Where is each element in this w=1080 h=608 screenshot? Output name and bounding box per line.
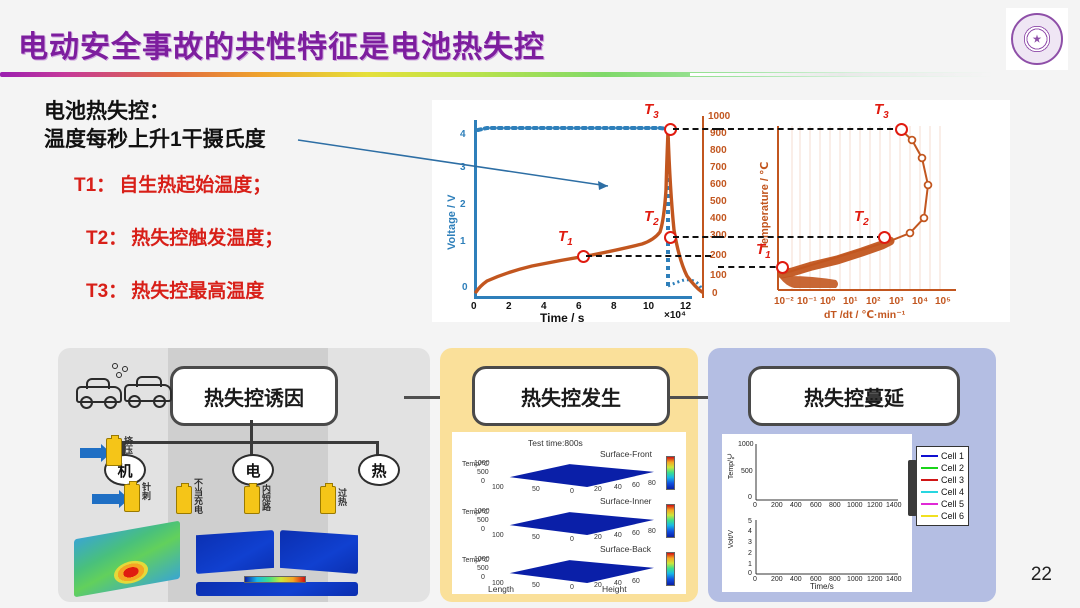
dtdt-tick-1: 10⁻¹ bbox=[797, 296, 817, 307]
marker-r-t3 bbox=[895, 123, 908, 136]
legend-label-cell-6: Cell 6 bbox=[941, 511, 964, 521]
inner-x-0: 0 bbox=[570, 536, 574, 543]
definition-t2-key: T2： bbox=[86, 228, 127, 249]
volt-y-1: 1 bbox=[748, 561, 752, 568]
slide-root: 电动安全事故的共性特征是电池热失控 电池热失控： 温度每秒上升1干摄氏度 T1：… bbox=[0, 0, 1080, 608]
tree-drop-2 bbox=[250, 441, 253, 455]
front-y-40: 40 bbox=[614, 484, 622, 491]
dtdt-axis-label: dT /dt / ℃·min⁻¹ bbox=[824, 309, 905, 321]
label-t1: T1 bbox=[558, 228, 573, 248]
propagation-plot: Temp/℃ 1000 500 0 0 200 400 600 800 1000… bbox=[722, 434, 912, 592]
volt-y-2: 2 bbox=[748, 550, 752, 557]
definition-t1-text: 自生热起始温度； bbox=[119, 175, 271, 196]
puncture-force-arrow-icon bbox=[92, 494, 120, 504]
lead-text: 电池热失控： 温度每秒上升1干摄氏度 bbox=[44, 98, 266, 154]
front-z-500: 500 bbox=[477, 469, 489, 476]
temp-x-200: 200 bbox=[771, 502, 783, 509]
propagation-volt-ylabel: Volt/V bbox=[728, 530, 735, 548]
temp-x-600: 600 bbox=[810, 502, 822, 509]
legend-item-cell-3: Cell 3 bbox=[921, 474, 964, 486]
inner-x-100: 100 bbox=[492, 532, 504, 539]
definition-t3-key: T3： bbox=[86, 281, 127, 302]
propagation-xlabel: Time/s bbox=[810, 582, 834, 591]
battery-short-circuit-label: 内短路 bbox=[260, 484, 273, 511]
back-z-0: 0 bbox=[481, 574, 485, 581]
definition-t3-text: 热失控最高温度 bbox=[131, 281, 264, 302]
flow-box-cause[interactable]: 热失控诱因 bbox=[170, 366, 338, 426]
legend-label-cell-1: Cell 1 bbox=[941, 451, 964, 461]
flow-panel-occurrence: 热失控发生 Test time:800s Surface-Front Temp/… bbox=[440, 348, 698, 602]
surface-ylabel: Height bbox=[602, 584, 627, 594]
battery-overcharge-icon bbox=[176, 486, 192, 514]
definition-list: T1：自生热起始温度； T2：热失控触发温度； T3：热失控最高温度 bbox=[74, 170, 283, 329]
dtdt-grid bbox=[732, 100, 1010, 322]
battery-overheat-icon bbox=[320, 486, 336, 514]
surface-inner-colorbar bbox=[666, 504, 675, 538]
legend-item-cell-1: Cell 1 bbox=[921, 450, 964, 462]
branch-badge-electrical[interactable]: 电 bbox=[232, 454, 274, 486]
temp-x-1400: 1400 bbox=[886, 502, 902, 509]
battery-crush-label: 挤压 bbox=[122, 436, 135, 454]
dtdt-tick-2: 10⁰ bbox=[820, 296, 836, 307]
temp-y-500: 500 bbox=[741, 468, 753, 475]
module-photo-strip bbox=[908, 460, 917, 516]
marker-r-t1 bbox=[776, 261, 789, 274]
legend-item-cell-2: Cell 2 bbox=[921, 462, 964, 474]
thermal-map-module-right bbox=[280, 530, 358, 574]
temp-y-0: 0 bbox=[748, 494, 752, 501]
definition-t1: T1：自生热起始温度； bbox=[74, 170, 283, 197]
flow-box-propagation[interactable]: 热失控蔓延 bbox=[748, 366, 960, 426]
dashline-t3 bbox=[673, 128, 718, 130]
label-r-t3: T3 bbox=[874, 101, 889, 121]
volt-y-3: 3 bbox=[748, 539, 752, 546]
volt-y-5: 5 bbox=[748, 518, 752, 525]
dashline-t1 bbox=[586, 255, 711, 257]
flow-box-occurrence[interactable]: 热失控发生 bbox=[472, 366, 670, 426]
title-divider-fade bbox=[690, 73, 990, 76]
legend-swatch-cell-3 bbox=[921, 479, 938, 482]
temp-x-1200: 1200 bbox=[867, 502, 883, 509]
volt-y-0: 0 bbox=[748, 570, 752, 577]
volt-x-1400: 1400 bbox=[886, 576, 902, 583]
cell-legend: Cell 1 Cell 2 Cell 3 Cell 4 Cell 5 Cell … bbox=[916, 446, 969, 526]
inner-z-500: 500 bbox=[477, 517, 489, 524]
thermal-map-strip bbox=[196, 582, 358, 596]
dtdt-temperature-chart: Temperature / ℃ 10⁻² 10⁻¹ 10⁰ 10¹ 10² 10… bbox=[732, 100, 1010, 322]
front-z-0: 0 bbox=[481, 478, 485, 485]
voltage-temp-curves bbox=[432, 100, 732, 322]
surface-xlabel: Length bbox=[488, 584, 514, 594]
legend-swatch-cell-4 bbox=[921, 491, 938, 494]
battery-puncture-label: 针刺 bbox=[140, 482, 153, 500]
legend-label-cell-2: Cell 2 bbox=[941, 463, 964, 473]
inner-y-20: 20 bbox=[594, 534, 602, 541]
front-x-0: 0 bbox=[570, 488, 574, 495]
surface-plot-group: Test time:800s Surface-Front Temp/℃ 1000… bbox=[452, 432, 686, 594]
volt-x-400: 400 bbox=[790, 576, 802, 583]
dtdt-tick-7: 10⁵ bbox=[935, 296, 951, 307]
volt-x-1000: 1000 bbox=[847, 576, 863, 583]
propagation-temp-ylabel: Temp/℃ bbox=[728, 452, 736, 479]
legend-label-cell-4: Cell 4 bbox=[941, 487, 964, 497]
dtdt-tick-3: 10¹ bbox=[843, 296, 857, 307]
volt-x-1200: 1200 bbox=[867, 576, 883, 583]
legend-swatch-cell-5 bbox=[921, 503, 938, 506]
definition-t2-text: 热失控触发温度； bbox=[131, 228, 283, 249]
back-y-20: 20 bbox=[594, 582, 602, 589]
marker-r-t2 bbox=[878, 231, 891, 244]
legend-swatch-cell-2 bbox=[921, 467, 938, 470]
back-y-60: 60 bbox=[632, 578, 640, 585]
front-x-50: 50 bbox=[532, 486, 540, 493]
thermal-colorbar bbox=[244, 576, 306, 583]
chart-card: Voltage / V 1 2 3 4 0 0 2 4 6 8 10 12 Ti… bbox=[432, 100, 1010, 322]
legend-swatch-cell-6 bbox=[921, 515, 938, 518]
dashline-r-t3 bbox=[718, 128, 903, 130]
legend-item-cell-5: Cell 5 bbox=[921, 498, 964, 510]
definition-t2: T2：热失控触发温度； bbox=[74, 223, 283, 250]
legend-item-cell-6: Cell 6 bbox=[921, 510, 964, 522]
temp-x-0: 0 bbox=[753, 502, 757, 509]
front-x-100: 100 bbox=[492, 484, 504, 491]
surface-back-label: Surface-Back bbox=[600, 544, 651, 554]
university-logo bbox=[1006, 8, 1068, 70]
legend-label-cell-5: Cell 5 bbox=[941, 499, 964, 509]
flow-panel-propagation: 热失控蔓延 Temp/℃ 1000 500 0 0 200 400 600 80… bbox=[708, 348, 996, 602]
dtdt-tick-6: 10⁴ bbox=[912, 296, 928, 307]
back-z-500: 500 bbox=[477, 565, 489, 572]
dashline-r-t2 bbox=[718, 236, 883, 238]
lead-line-2: 温度每秒上升1干摄氏度 bbox=[44, 126, 266, 154]
front-y-20: 20 bbox=[594, 486, 602, 493]
crush-force-arrow-icon bbox=[80, 448, 102, 458]
back-z-1000: 1000 bbox=[474, 556, 490, 563]
thermal-map-cell bbox=[74, 521, 180, 598]
tree-stem bbox=[250, 420, 253, 442]
dashline-t2 bbox=[673, 236, 718, 238]
surface-plot-title: Test time:800s bbox=[528, 438, 583, 448]
legend-item-cell-4: Cell 4 bbox=[921, 486, 964, 498]
inner-y-80: 80 bbox=[648, 528, 656, 535]
volt-x-200: 200 bbox=[771, 576, 783, 583]
front-y-60: 60 bbox=[632, 482, 640, 489]
inner-y-40: 40 bbox=[614, 532, 622, 539]
legend-swatch-cell-1 bbox=[921, 455, 938, 458]
dtdt-tick-5: 10³ bbox=[889, 296, 903, 307]
back-x-0: 0 bbox=[570, 584, 574, 591]
dtdt-tick-0: 10⁻² bbox=[774, 296, 794, 307]
definition-t1-key: T1： bbox=[74, 175, 115, 196]
temp-x-800: 800 bbox=[829, 502, 841, 509]
lead-line-1: 电池热失控： bbox=[44, 98, 266, 126]
label-t2: T2 bbox=[644, 208, 659, 228]
surface-back-mesh bbox=[478, 558, 654, 584]
label-r-t2: T2 bbox=[854, 208, 869, 228]
tree-drop-3 bbox=[376, 441, 379, 455]
inner-y-60: 60 bbox=[632, 530, 640, 537]
volt-y-4: 4 bbox=[748, 528, 752, 535]
label-r-t1: T1 bbox=[756, 241, 771, 261]
surface-front-label: Surface-Front bbox=[600, 449, 652, 459]
back-x-50: 50 bbox=[532, 582, 540, 589]
definition-t3: T3：热失控最高温度 bbox=[74, 276, 283, 303]
battery-short-circuit-icon bbox=[244, 486, 260, 514]
temp-x-1000: 1000 bbox=[847, 502, 863, 509]
dtdt-tick-4: 10² bbox=[866, 296, 880, 307]
surface-front-mesh bbox=[478, 462, 654, 488]
legend-label-cell-3: Cell 3 bbox=[941, 475, 964, 485]
seal-icon bbox=[1011, 13, 1063, 65]
flow-panel-cause: 热失控诱因 机 电 热 挤压 针刺 bbox=[58, 348, 430, 602]
surface-back-colorbar bbox=[666, 552, 675, 586]
inner-x-50: 50 bbox=[532, 534, 540, 541]
page-title: 电动安全事故的共性特征是电池热失控 bbox=[18, 22, 545, 66]
battery-overheat-label: 过热 bbox=[336, 488, 349, 506]
inner-z-1000: 1000 bbox=[474, 508, 490, 515]
label-t3: T3 bbox=[644, 101, 659, 121]
page-number: 22 bbox=[1031, 564, 1052, 586]
temp-x-400: 400 bbox=[790, 502, 802, 509]
voltage-time-chart: Voltage / V 1 2 3 4 0 0 2 4 6 8 10 12 Ti… bbox=[432, 100, 732, 322]
surface-inner-mesh bbox=[478, 510, 654, 536]
front-y-80: 80 bbox=[648, 480, 656, 487]
surface-inner-label: Surface-Inner bbox=[600, 496, 652, 506]
volt-x-0: 0 bbox=[753, 576, 757, 583]
branch-badge-thermal[interactable]: 热 bbox=[358, 454, 400, 486]
battery-puncture-icon bbox=[124, 484, 140, 512]
front-z-1000: 1000 bbox=[474, 460, 490, 467]
battery-crush-icon bbox=[106, 438, 122, 466]
surface-front-colorbar bbox=[666, 456, 675, 490]
inner-z-0: 0 bbox=[481, 526, 485, 533]
propagation-axes bbox=[722, 434, 912, 592]
thermal-map-module-left bbox=[196, 530, 274, 574]
battery-overcharge-label: 不当充电 bbox=[192, 478, 205, 514]
temp-y-1000: 1000 bbox=[738, 441, 754, 448]
